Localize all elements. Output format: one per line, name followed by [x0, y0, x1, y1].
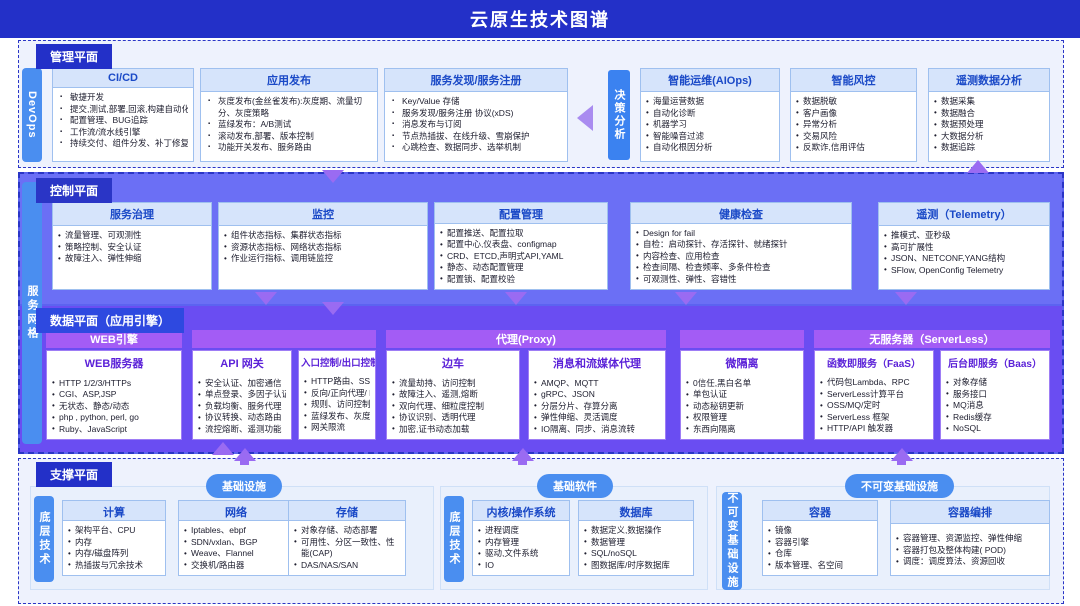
list-item: MQ消息: [946, 400, 1044, 412]
card-title: 监控: [219, 203, 427, 226]
card-body: 海量运营数据 自动化诊断 机器学习 智能噪音过滤 自动化根因分析: [641, 92, 779, 161]
list-item: 滚动发布,部署、版本控制: [206, 131, 372, 143]
list-item: 作业运行指标、调用链监控: [224, 253, 422, 265]
card-title: 入口控制/出口控制: [299, 351, 375, 372]
list-item: 内存: [68, 537, 160, 549]
list-item: SDN/vxlan、BGP: [184, 537, 288, 549]
group-label: WEB引擎: [90, 331, 138, 347]
card-web-server[interactable]: WEB服务器 HTTP 1/2/3/HTTPs CGI、ASP,JSP 无状态、…: [46, 350, 182, 440]
group-security: [680, 330, 804, 348]
list-item: 仓库: [768, 548, 872, 560]
list-item: 无状态、静态/动态: [52, 401, 176, 413]
list-item: DAS/NAS/SAN: [294, 560, 400, 572]
list-item: HTTP路由、SSL 终结: [304, 376, 370, 388]
list-item: 功能开关发布、服务路由: [206, 142, 372, 154]
card-body: 组件状态指标、集群状态指标 资源状态指标、网络状态指标 作业运行指标、调用链监控: [219, 226, 427, 289]
arrow-up-icon: [967, 160, 989, 173]
card-sidecar[interactable]: 边车 流量劫持、访问控制 故障注入、遥测,熔断 双向代理、细粒度控制 协议识别、…: [386, 350, 520, 440]
card-body: HTTP路由、SSL 终结 反向/正向代理/ NAT 规则、访问控制 蓝绿发布、…: [299, 372, 375, 439]
group-proxy: 代理(Proxy): [386, 330, 666, 348]
list-item: 网关限流: [304, 422, 370, 434]
list-item: 对象存储、动态部署: [294, 525, 400, 537]
decision-analysis-rail: 决策分析: [608, 70, 630, 160]
list-item: 心跳检查、数据同步、选举机制: [390, 142, 562, 154]
list-item: 对象存储: [946, 377, 1044, 389]
card-title: 内核/操作系统: [473, 501, 569, 521]
card-kernel-os[interactable]: 内核/操作系统 进程调度 内存管理 驱动,文件系统 IO: [472, 500, 570, 576]
card-body: 数据定义,数据操作 数据管理 SQL/noSQL 图数据库/时序数据库: [579, 521, 693, 575]
card-telemetry-analysis[interactable]: 遥测数据分析 数据采集 数据融合 数据预处理 大数据分析 数据追踪: [928, 68, 1050, 162]
arrow-up-icon: [212, 442, 234, 455]
card-title: 边车: [387, 351, 519, 374]
arrow-up-icon: [512, 448, 534, 461]
arrow-up-icon: [891, 448, 913, 461]
card-ingress-egress[interactable]: 入口控制/出口控制 HTTP路由、SSL 终结 反向/正向代理/ NAT 规则、…: [298, 350, 376, 440]
card-body: Design for fail 自检：启动探针、存活探针、就绪探针 内容检查、应…: [631, 224, 851, 290]
card-baas[interactable]: 后台即服务（Baas） 对象存储 服务接口 MQ消息 Redis缓存 NoSQL: [940, 350, 1050, 440]
card-title: 网络: [179, 501, 293, 521]
list-item: 故障注入、遥测,熔断: [392, 389, 514, 401]
list-item: 内容检查、应用检查: [636, 251, 846, 263]
card-title: 遥测数据分析: [929, 69, 1049, 92]
card-title: 函数即服务（FaaS）: [815, 351, 933, 373]
list-item: 服务接口: [946, 389, 1044, 401]
card-title: 容器: [763, 501, 877, 521]
list-item: HTTP 1/2/3/HTTPs: [52, 378, 176, 390]
list-item: 单包认证: [686, 389, 798, 401]
list-item: 数据定义,数据操作: [584, 525, 688, 537]
rail-base-tech-2-label: 底层技术: [446, 511, 462, 567]
card-title: 服务发现/服务注册: [385, 69, 567, 92]
list-item: 配置锁、配置校验: [440, 274, 602, 286]
group-gateway: [192, 330, 376, 348]
list-item: 容器管理、资源监控、弹性伸缩: [896, 533, 1044, 545]
card-config-management[interactable]: 配置管理 配置推送、配置拉取 配置中心,仪表盘、configmap CRD、ET…: [434, 202, 608, 290]
card-title: 计算: [63, 501, 165, 521]
card-body: 安全认证、加密通信 单点登录、多因子认证 负载均衡、服务代理 协议转换、动态路由…: [193, 374, 291, 440]
list-item: 热插拔与冗余技术: [68, 560, 160, 572]
list-item: 高可扩展性: [884, 242, 1044, 254]
list-item: Design for fail: [636, 228, 846, 240]
list-item: Weave、Flannel: [184, 548, 288, 560]
list-item: JSON、NETCONF,YANG结构: [884, 253, 1044, 265]
list-item: 配置推送、配置拉取: [440, 228, 602, 240]
list-item: 双向代理、细粒度控制: [392, 401, 514, 413]
list-item: OSS/MQ/定时: [820, 400, 928, 412]
list-item: ServerLess 框架: [820, 412, 928, 424]
card-title: 遥测（Telemetry）: [879, 203, 1049, 226]
list-item: 海量运营数据: [646, 96, 774, 108]
list-item: 大数据分析: [934, 131, 1044, 143]
list-item: 动态秘钥更新: [686, 401, 798, 413]
list-item: 敏捷开发: [58, 92, 188, 104]
list-item: 客户画像: [796, 108, 911, 120]
rail-immutable: 不可变基础设施: [722, 492, 742, 590]
list-item: 配置管理、BUG追踪: [58, 115, 188, 127]
list-item: 弹性伸缩、灵活调度: [534, 412, 660, 424]
card-telemetry[interactable]: 遥测（Telemetry） 推模式、亚秒级 高可扩展性 JSON、NETCONF…: [878, 202, 1050, 290]
list-item: 消息发布与订阅: [390, 119, 562, 131]
list-item: 数据追踪: [934, 142, 1044, 154]
list-item: 异常分析: [796, 119, 911, 131]
list-item: 自检：启动探针、存活探针、就绪探针: [636, 239, 846, 251]
list-item: 调度：调度算法、资源回收: [896, 556, 1044, 568]
list-item: 数据脱敏: [796, 96, 911, 108]
list-item: 策略控制、安全认证: [58, 242, 206, 254]
list-item: php , python, perl, go: [52, 412, 176, 424]
card-faas[interactable]: 函数即服务（FaaS） 代码包Lambda、RPC ServerLess计算平台…: [814, 350, 934, 440]
list-item: SQL/noSQL: [584, 548, 688, 560]
list-item: 节点热插拔、在线升级、雪崩保护: [390, 131, 562, 143]
group-label: 无服务器（ServerLess）: [869, 331, 994, 347]
arrow-down-icon: [675, 292, 697, 305]
list-item: 图数据库/时序数据库: [584, 560, 688, 572]
list-item: 自动化诊断: [646, 108, 774, 120]
list-item: AMQP、MQTT: [534, 378, 660, 390]
list-item: 容器引擎: [768, 537, 872, 549]
list-item: 驱动,文件系统: [478, 548, 564, 560]
card-database[interactable]: 数据库 数据定义,数据操作 数据管理 SQL/noSQL 图数据库/时序数据库: [578, 500, 694, 576]
list-item: 权限管理: [686, 412, 798, 424]
list-item: 负载均衡、服务代理: [198, 401, 286, 413]
card-title: 消息和流媒体代理: [529, 351, 665, 374]
card-body: 流量劫持、访问控制 故障注入、遥测,熔断 双向代理、细粒度控制 协议识别、透明代…: [387, 374, 519, 440]
arrow-down-icon: [255, 292, 277, 305]
list-item: 静态、动态配置管理: [440, 262, 602, 274]
data-plane-label: 数据平面（应用引擎）: [36, 308, 184, 333]
list-item: 数据预处理: [934, 119, 1044, 131]
list-item: 加密,证书动态加载: [392, 424, 514, 436]
card-title: 智能风控: [791, 69, 916, 92]
list-item: 安全认证、加密通信: [198, 378, 286, 390]
list-item: CGI、ASP,JSP: [52, 389, 176, 401]
card-cicd[interactable]: CI/CD 敏捷开发 提交,测试,部署,回滚,构建自动化 配置管理、BUG追踪 …: [52, 68, 194, 162]
card-body: AMQP、MQTT gRPC、JSON 分层分片、存算分离 弹性伸缩、灵活调度 …: [529, 374, 665, 440]
page-title: 云原生技术图谱: [0, 0, 1080, 38]
card-micro-segmentation[interactable]: 微隔离 0信任,黑白名单 单包认证 动态秘钥更新 权限管理 东西向隔离: [680, 350, 804, 440]
arrow-up-icon: [234, 448, 256, 461]
list-item: 交易风险: [796, 131, 911, 143]
card-body: Key/Value 存储 服务发现/服务注册 协议(xDS) 消息发布与订阅 节…: [385, 92, 567, 161]
card-title: 容器编排: [891, 501, 1049, 524]
list-item: ServerLess计算平台: [820, 389, 928, 401]
card-title: 应用发布: [201, 69, 377, 92]
card-body: HTTP 1/2/3/HTTPs CGI、ASP,JSP 无状态、静态/动态 p…: [47, 374, 181, 440]
rail-devops: DevOps: [22, 68, 42, 162]
list-item: 内存管理: [478, 537, 564, 549]
card-storage[interactable]: 存储 对象存储、动态部署 可用性、分区一致性、性能(CAP) DAS/NAS/S…: [288, 500, 406, 576]
list-item: 交换机/路由器: [184, 560, 288, 572]
support-plane-label: 支撑平面: [36, 462, 112, 487]
card-title: 健康检查: [631, 203, 851, 224]
list-item: 自动化根因分析: [646, 142, 774, 154]
card-title: WEB服务器: [47, 351, 181, 374]
card-body: 敏捷开发 提交,测试,部署,回滚,构建自动化 配置管理、BUG追踪 工作流/流水…: [53, 88, 193, 161]
list-item: 单点登录、多因子认证: [198, 389, 286, 401]
card-compute[interactable]: 计算 架构平台、CPU 内存 内存/磁盘阵列 热插拔与冗余技术: [62, 500, 166, 576]
list-item: 灰度发布(金丝雀发布):灰度期、流量切分、灰度策略: [206, 96, 372, 119]
list-item: 反欺诈,信用评估: [796, 142, 911, 154]
card-container[interactable]: 容器 镜像 容器引擎 仓库 版本管理、名空间: [762, 500, 878, 576]
card-title: 智能运维(AIOps): [641, 69, 779, 92]
list-item: 工作流/流水线引擎: [58, 127, 188, 139]
list-item: 故障注入、弹性伸缩: [58, 253, 206, 265]
list-item: Ruby、JavaScript: [52, 424, 176, 436]
card-message-stream-proxy[interactable]: 消息和流媒体代理 AMQP、MQTT gRPC、JSON 分层分片、存算分离 弹…: [528, 350, 666, 440]
pill-infrastructure: 基础设施: [206, 474, 282, 498]
card-app-release[interactable]: 应用发布 灰度发布(金丝雀发布):灰度期、流量切分、灰度策略 蓝绿发布：A/B测…: [200, 68, 378, 162]
list-item: 检查间隔、检查频率、多条件检查: [636, 262, 846, 274]
arrow-down-icon: [322, 170, 344, 183]
list-item: 协议识别、透明代理: [392, 412, 514, 424]
list-item: NoSQL: [946, 423, 1044, 435]
card-title: 存储: [289, 501, 405, 521]
card-body: 进程调度 内存管理 驱动,文件系统 IO: [473, 521, 569, 575]
card-body: 镜像 容器引擎 仓库 版本管理、名空间: [763, 521, 877, 575]
card-body: 容器管理、资源监控、弹性伸缩 容器打包及整体构建( POD) 调度：调度算法、资…: [891, 524, 1049, 575]
card-aiops[interactable]: 智能运维(AIOps) 海量运营数据 自动化诊断 机器学习 智能噪音过滤 自动化…: [640, 68, 780, 162]
pill-base-software: 基础软件: [537, 474, 613, 498]
list-item: IO: [478, 560, 564, 572]
list-item: 流量管理、可观测性: [58, 230, 206, 242]
list-item: 反向/正向代理/ NAT: [304, 388, 370, 400]
list-item: 版本管理、名空间: [768, 560, 872, 572]
card-title: 微隔离: [681, 351, 803, 374]
list-item: 服务发现/服务注册 协议(xDS): [390, 108, 562, 120]
decision-analysis-label: 决策分析: [611, 89, 627, 141]
pill-immutable-infra: 不可变基础设施: [845, 474, 954, 498]
card-title: 后台即服务（Baas）: [941, 351, 1049, 373]
card-monitoring[interactable]: 监控 组件状态指标、集群状态指标 资源状态指标、网络状态指标 作业运行指标、调用…: [218, 202, 428, 290]
list-item: 0信任,黑白名单: [686, 378, 798, 390]
card-title: 配置管理: [435, 203, 607, 224]
list-item: gRPC、JSON: [534, 389, 660, 401]
group-serverless: 无服务器（ServerLess）: [814, 330, 1050, 348]
list-item: IO隔离、同步、消息流转: [534, 424, 660, 436]
card-network[interactable]: 网络 Iptables、ebpf SDN/vxlan、BGP Weave、Fla…: [178, 500, 294, 576]
list-item: 数据采集: [934, 96, 1044, 108]
management-plane-label: 管理平面: [36, 44, 112, 69]
card-body: 数据脱敏 客户画像 异常分析 交易风险 反欺诈,信用评估: [791, 92, 916, 161]
list-item: 流控熔断、遥测功能: [198, 424, 286, 436]
arrow-left-icon: [577, 105, 593, 131]
card-body: 对象存储、动态部署 可用性、分区一致性、性能(CAP) DAS/NAS/SAN: [289, 521, 405, 575]
list-item: 进程调度: [478, 525, 564, 537]
list-item: 架构平台、CPU: [68, 525, 160, 537]
list-item: 数据融合: [934, 108, 1044, 120]
list-item: 配置中心,仪表盘、configmap: [440, 239, 602, 251]
list-item: 代码包Lambda、RPC: [820, 377, 928, 389]
card-body: 推模式、亚秒级 高可扩展性 JSON、NETCONF,YANG结构 SFlow,…: [879, 226, 1049, 289]
card-body: 代码包Lambda、RPC ServerLess计算平台 OSS/MQ/定时 S…: [815, 373, 933, 439]
list-item: 规则、访问控制: [304, 399, 370, 411]
list-item: 组件状态指标、集群状态指标: [224, 230, 422, 242]
list-item: 流量劫持、访问控制: [392, 378, 514, 390]
list-item: 蓝绿发布、灰度发布: [304, 411, 370, 423]
rail-immutable-label: 不可变基础设施: [724, 492, 740, 590]
card-health-check[interactable]: 健康检查 Design for fail 自检：启动探针、存活探针、就绪探针 内…: [630, 202, 852, 290]
list-item: 智能噪音过滤: [646, 131, 774, 143]
card-service-governance[interactable]: 服务治理 流量管理、可观测性 策略控制、安全认证 故障注入、弹性伸缩: [52, 202, 212, 290]
card-body: 配置推送、配置拉取 配置中心,仪表盘、configmap CRD、ETCD,声明…: [435, 224, 607, 290]
list-item: HTTP/API 触发器: [820, 423, 928, 435]
list-item: 可观测性、弹性、容错性: [636, 274, 846, 286]
control-plane-label: 控制平面: [36, 178, 112, 203]
list-item: Redis缓存: [946, 412, 1044, 424]
list-item: 持续交付、组件分发、补丁修复: [58, 138, 188, 150]
list-item: Key/Value 存储: [390, 96, 562, 108]
card-risk-control[interactable]: 智能风控 数据脱敏 客户画像 异常分析 交易风险 反欺诈,信用评估: [790, 68, 917, 162]
list-item: 资源状态指标、网络状态指标: [224, 242, 422, 254]
arrow-down-icon: [322, 302, 344, 315]
card-body: 对象存储 服务接口 MQ消息 Redis缓存 NoSQL: [941, 373, 1049, 439]
card-body: 流量管理、可观测性 策略控制、安全认证 故障注入、弹性伸缩: [53, 226, 211, 289]
card-body: Iptables、ebpf SDN/vxlan、BGP Weave、Flanne…: [179, 521, 293, 575]
list-item: 内存/磁盘阵列: [68, 548, 160, 560]
list-item: Iptables、ebpf: [184, 525, 288, 537]
list-item: 推模式、亚秒级: [884, 230, 1044, 242]
card-title: 数据库: [579, 501, 693, 521]
list-item: 镜像: [768, 525, 872, 537]
card-body: 灰度发布(金丝雀发布):灰度期、流量切分、灰度策略 蓝绿发布：A/B测试 滚动发…: [201, 92, 377, 161]
card-title: API 网关: [193, 351, 291, 374]
list-item: 蓝绿发布：A/B测试: [206, 119, 372, 131]
list-item: SFlow, OpenConfig Telemetry: [884, 265, 1044, 277]
rail-base-tech-2: 底层技术: [444, 496, 464, 582]
list-item: 可用性、分区一致性、性能(CAP): [294, 537, 400, 560]
card-body: 数据采集 数据融合 数据预处理 大数据分析 数据追踪: [929, 92, 1049, 161]
arrow-down-icon: [895, 292, 917, 305]
list-item: CRD、ETCD,声明式API,YAML: [440, 251, 602, 263]
rail-base-tech-1-label: 底层技术: [36, 511, 52, 567]
card-body: 架构平台、CPU 内存 内存/磁盘阵列 热插拔与冗余技术: [63, 521, 165, 575]
rail-devops-label: DevOps: [26, 91, 38, 139]
card-api-gateway[interactable]: API 网关 安全认证、加密通信 单点登录、多因子认证 负载均衡、服务代理 协议…: [192, 350, 292, 440]
list-item: 容器打包及整体构建( POD): [896, 545, 1044, 557]
card-title: CI/CD: [53, 69, 193, 88]
card-title: 服务治理: [53, 203, 211, 226]
list-item: 分层分片、存算分离: [534, 401, 660, 413]
card-service-discovery[interactable]: 服务发现/服务注册 Key/Value 存储 服务发现/服务注册 协议(xDS)…: [384, 68, 568, 162]
diagram-root: 云原生技术图谱 管理平面 DevOps CI/CD 敏捷开发 提交,测试,部署,…: [0, 0, 1080, 606]
group-label: 代理(Proxy): [496, 331, 556, 347]
card-container-orchestration[interactable]: 容器编排 容器管理、资源监控、弹性伸缩 容器打包及整体构建( POD) 调度：调…: [890, 500, 1050, 576]
list-item: 东西向隔离: [686, 424, 798, 436]
list-item: 协议转换、动态路由: [198, 412, 286, 424]
list-item: 机器学习: [646, 119, 774, 131]
arrow-down-icon: [505, 292, 527, 305]
rail-base-tech-1: 底层技术: [34, 496, 54, 582]
list-item: 数据管理: [584, 537, 688, 549]
card-body: 0信任,黑白名单 单包认证 动态秘钥更新 权限管理 东西向隔离: [681, 374, 803, 440]
list-item: 提交,测试,部署,回滚,构建自动化: [58, 104, 188, 116]
